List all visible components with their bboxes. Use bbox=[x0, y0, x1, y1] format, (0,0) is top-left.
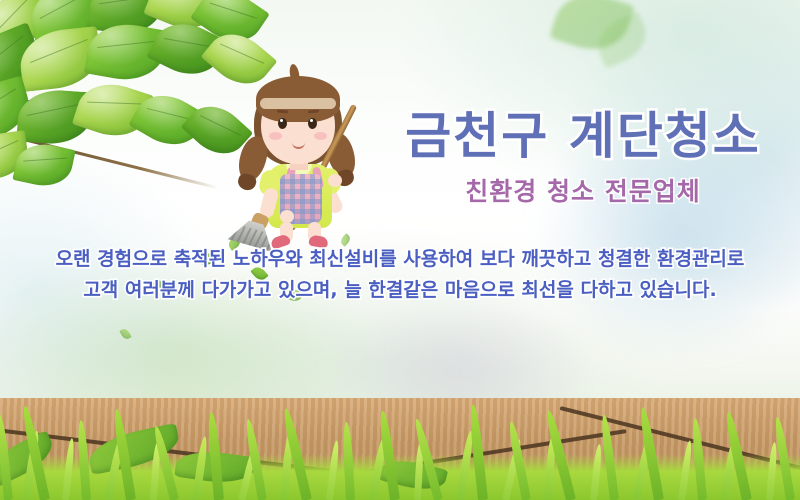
body-copy: 오랜 경험으로 축적된 노하우와 최신설비를 사용하여 보다 깨끗하고 청결한 … bbox=[0, 244, 800, 306]
cleaning-girl-illustration bbox=[228, 62, 378, 240]
eye-highlight-left bbox=[280, 119, 283, 122]
hair-band bbox=[260, 98, 336, 109]
page-title: 금천구 계단청소 bbox=[378, 96, 788, 168]
body-line: 오랜 경험으로 축적된 노하우와 최신설비를 사용하여 보다 깨끗하고 청결한 … bbox=[0, 244, 800, 275]
cheek-right bbox=[314, 132, 327, 140]
subtitle: 친환경 청소 전문업체 bbox=[378, 172, 788, 208]
hand-right bbox=[328, 174, 342, 187]
grass-foreground bbox=[0, 382, 800, 500]
hand-left bbox=[280, 210, 294, 223]
promo-banner: 금천구 계단청소 친환경 청소 전문업체 오랜 경험으로 축적된 노하우와 최신… bbox=[0, 0, 800, 500]
cheek-left bbox=[269, 132, 282, 140]
eye-highlight-right bbox=[310, 119, 313, 122]
body-line: 고객 여러분께 다가가고 있으며, 늘 한결같은 마음으로 최선을 다하고 있습… bbox=[0, 275, 800, 306]
